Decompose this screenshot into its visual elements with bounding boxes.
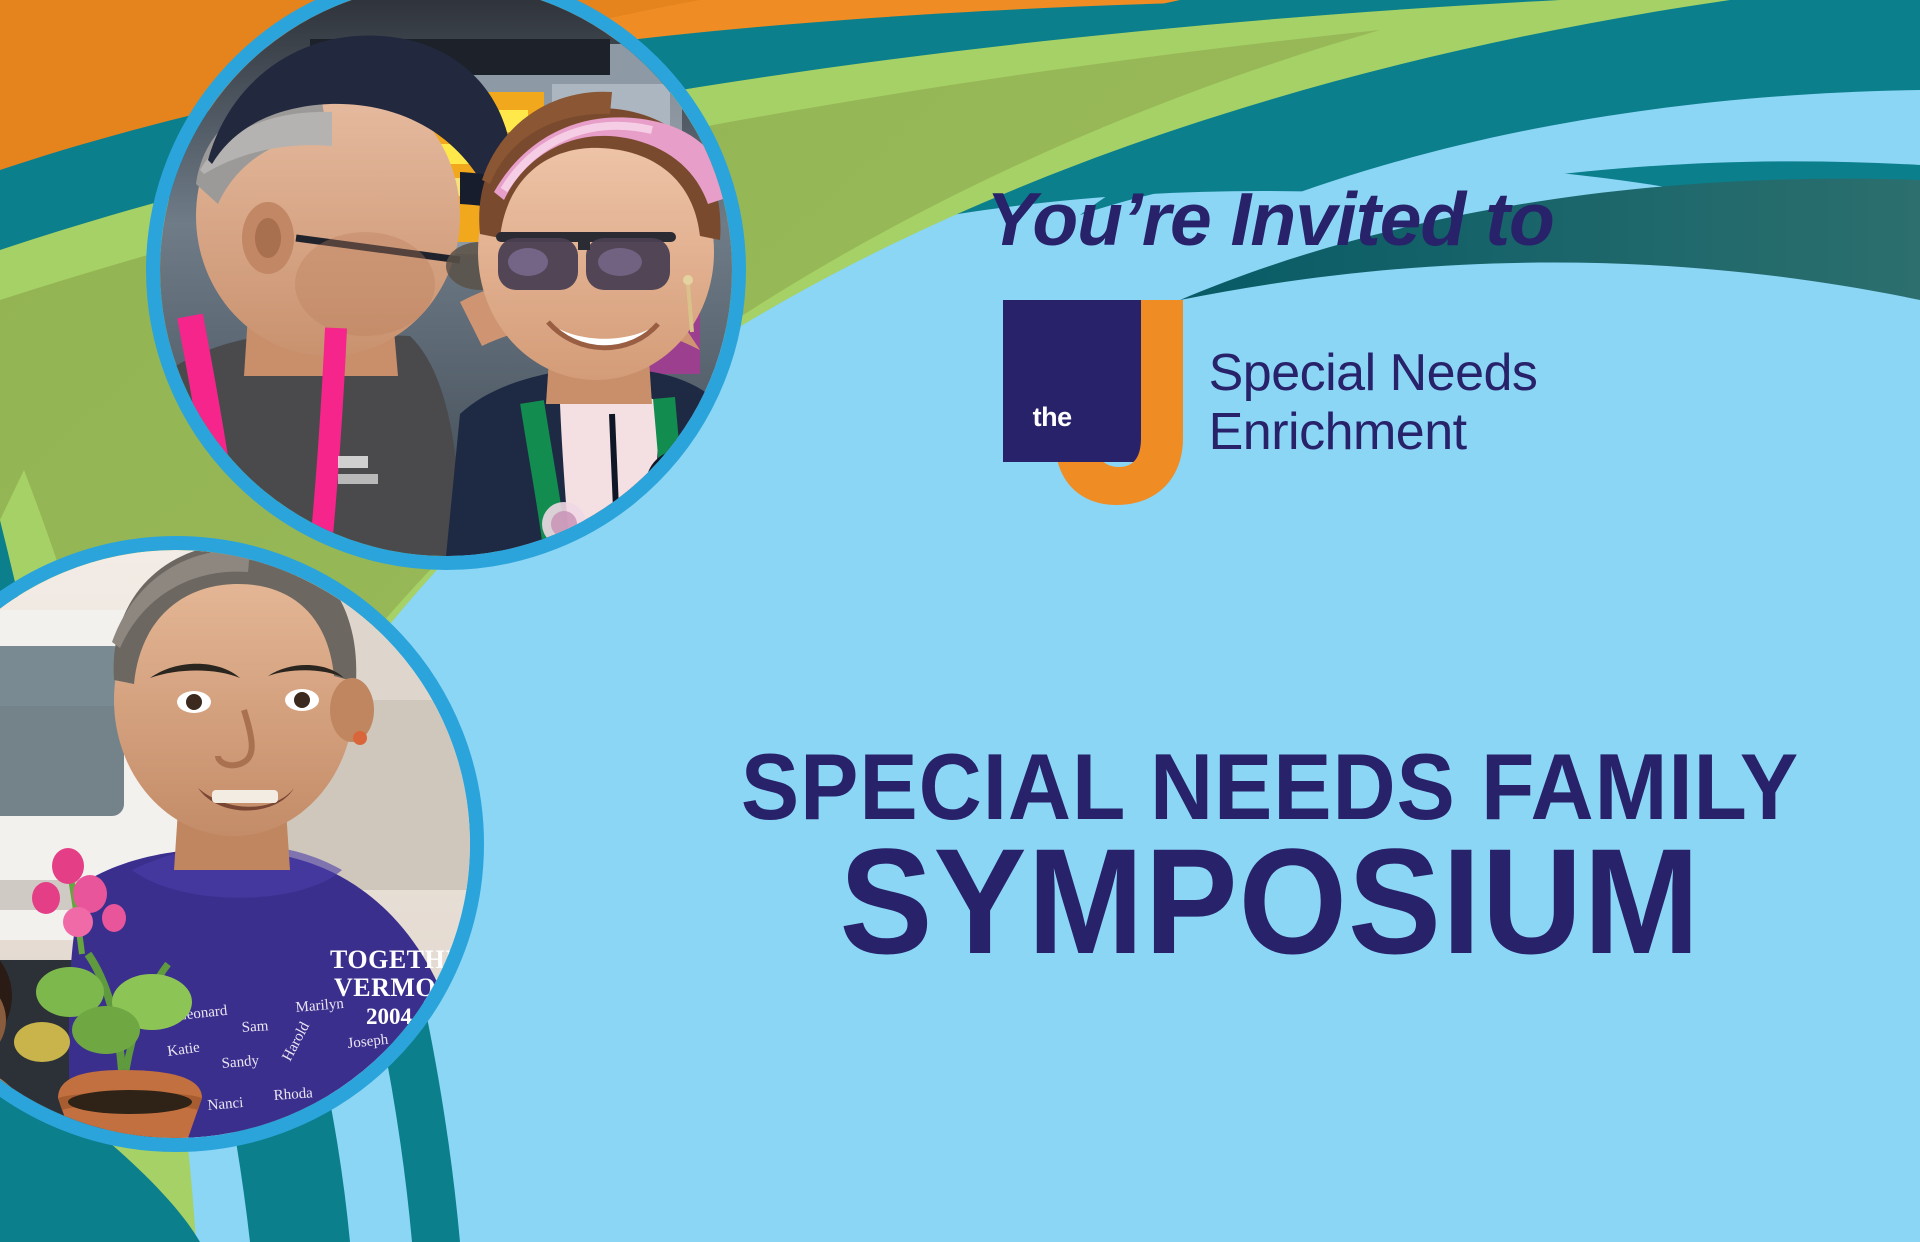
svg-text:Nanci: Nanci xyxy=(207,1095,244,1114)
svg-text:2004: 2004 xyxy=(366,1004,413,1029)
the-j-logo-lockup: the Special Needs Enrichment xyxy=(620,300,1920,505)
svg-text:Sandy: Sandy xyxy=(221,1053,260,1072)
event-title-line2: SYMPOSIUM xyxy=(666,826,1875,976)
logo-the-label: the xyxy=(1033,404,1072,431)
the-j-logo-mark: the xyxy=(1003,300,1183,505)
content-column: You’re Invited to the Special Needs Enri… xyxy=(620,0,1920,1242)
svg-text:Sam: Sam xyxy=(241,1018,269,1036)
logo-wordmark: Special Needs Enrichment xyxy=(1209,344,1538,460)
logo-j-navy-overlap xyxy=(1055,300,1123,462)
poster-canvas: TOGETHER VERMONT 2004 Leonard Sam Marily… xyxy=(0,0,1920,1242)
svg-text:Rhoda: Rhoda xyxy=(273,1085,314,1104)
invitation-kicker: You’re Invited to xyxy=(620,182,1920,257)
